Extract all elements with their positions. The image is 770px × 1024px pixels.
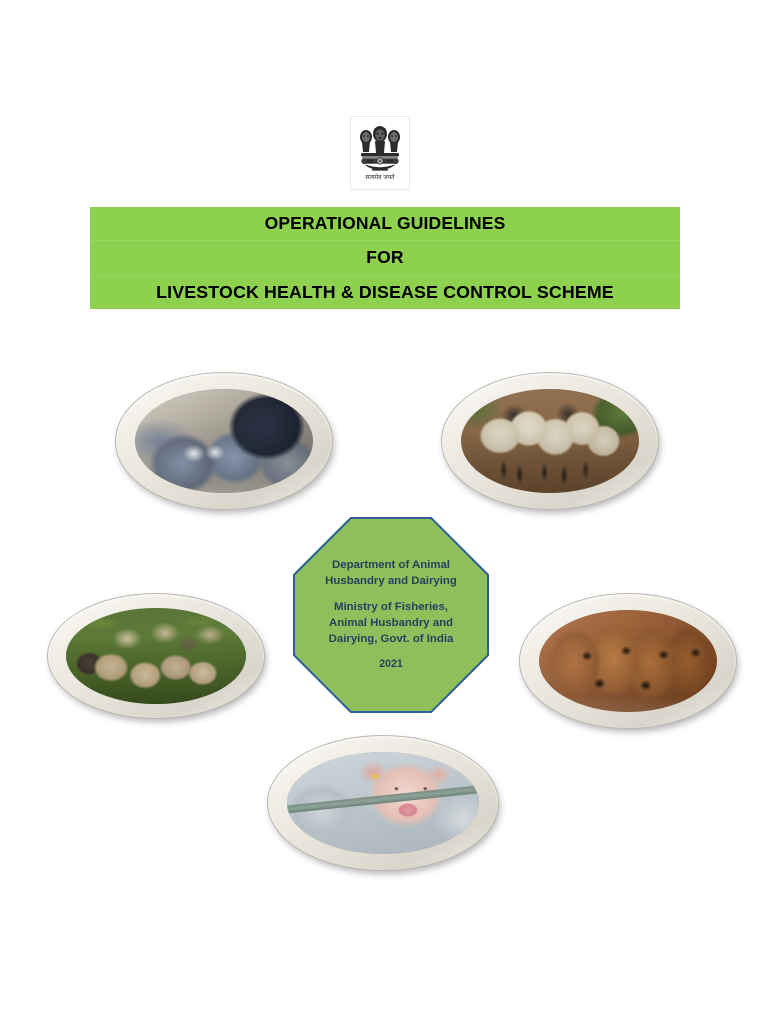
cover-page: सत्यमेव जयते OPERATIONAL GUIDELINES FOR … — [0, 0, 770, 1024]
photo-frame-inner-pig — [287, 752, 479, 854]
photo-frame-inner-buffalo — [135, 389, 313, 493]
photo-image-sheep-grazing — [66, 608, 246, 704]
ministry-line-2: Animal Husbandry and — [329, 616, 453, 632]
publisher-octagon: Department of Animal Husbandry and Dairy… — [293, 517, 489, 713]
photo-image-buffalo — [135, 389, 313, 493]
title-row-3: LIVESTOCK HEALTH & DISEASE CONTROL SCHEM… — [90, 276, 680, 309]
photo-oval-sheep-grazing — [48, 594, 264, 718]
photo-frame-inner-cattle — [539, 610, 717, 712]
photo-oval-buffalo — [116, 373, 332, 509]
photo-oval-cattle — [520, 594, 736, 728]
department-line-2: Husbandry and Dairying — [325, 574, 457, 590]
ministry-line-1: Ministry of Fisheries, — [334, 600, 448, 616]
title-line-operational-guidelines: OPERATIONAL GUIDELINES — [265, 214, 506, 233]
photo-frame-inner-sheep-pen — [461, 389, 639, 493]
publication-year: 2021 — [379, 658, 403, 672]
photo-image-pig — [287, 752, 479, 854]
photo-image-cattle — [539, 610, 717, 712]
title-row-2: FOR — [90, 241, 680, 275]
title-line-scheme-name: LIVESTOCK HEALTH & DISEASE CONTROL SCHEM… — [156, 283, 614, 303]
title-row-1: OPERATIONAL GUIDELINES — [90, 207, 680, 241]
photo-oval-sheep-pen — [442, 373, 658, 509]
ministry-line-3: Dairying, Govt. of India — [329, 632, 454, 648]
department-line-1: Department of Animal — [332, 558, 450, 574]
octagon-text-block: Department of Animal Husbandry and Dairy… — [293, 517, 489, 713]
photo-image-sheep-pen — [461, 389, 639, 493]
state-emblem-of-india-icon: सत्यमेव जयते — [350, 116, 410, 190]
emblem-motto-text: सत्यमेव जयते — [365, 173, 395, 181]
photo-frame-inner-sheep-grazing — [66, 608, 246, 704]
title-banner: OPERATIONAL GUIDELINES FOR LIVESTOCK HEA… — [90, 207, 680, 309]
photo-oval-pig — [268, 736, 498, 870]
title-line-for: FOR — [366, 248, 403, 267]
